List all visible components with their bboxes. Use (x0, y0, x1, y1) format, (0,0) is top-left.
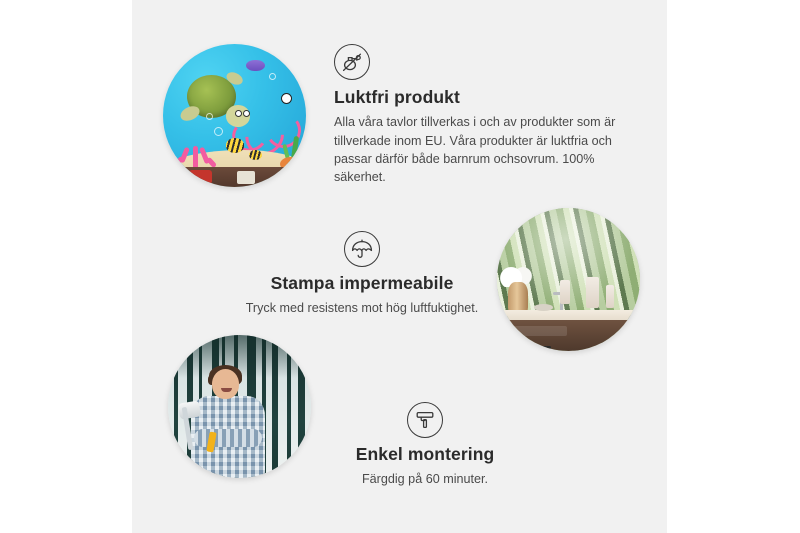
paint-roller-icon (407, 402, 443, 438)
no-odour-perfume-bottle-icon (334, 44, 370, 80)
product-features-infographic: Luktfri produkt Alla våra tavlor tillver… (0, 0, 800, 533)
fish-purple (246, 60, 265, 71)
turtle-eye (235, 110, 242, 117)
bubble-icon (206, 113, 213, 120)
vanity-cabinet (506, 320, 640, 351)
feature-waterproof: Stampa impermeabile Tryck med resistens … (222, 231, 502, 318)
feature-title: Luktfri produkt (334, 88, 624, 107)
octopus-eye (281, 93, 292, 104)
soap-dish (534, 304, 553, 311)
photo-painter (168, 335, 311, 478)
door-handle (613, 346, 616, 350)
feature-title: Stampa impermeabile (222, 274, 502, 293)
aquarium-foreground (163, 167, 306, 187)
feature-description: Färgdig på 60 minuter. (300, 470, 550, 488)
feature-description: Tryck med resistens mot hög luftfuktighe… (222, 299, 502, 317)
aquarium-foreground-object (189, 170, 212, 184)
drawer-handle (522, 346, 552, 349)
bathroom-bottle (606, 285, 615, 308)
aquarium-foreground-object (237, 171, 254, 184)
bathroom-bottle (560, 280, 570, 304)
feature-easy-mounting: Enkel montering Färgdig på 60 minuter. (300, 402, 550, 489)
person-arm (194, 429, 263, 446)
fish-yellow (249, 150, 262, 160)
feature-title: Enkel montering (300, 445, 550, 464)
person-head (212, 369, 239, 399)
umbrella-icon (344, 231, 380, 267)
feature-odour-free: Luktfri produkt Alla våra tavlor tillver… (334, 44, 624, 186)
feature-description: Alla våra tavlor tillverkas i och av pro… (334, 113, 624, 186)
fish-yellow (226, 138, 245, 152)
photo-bathroom (497, 208, 640, 351)
bubble-icon (269, 73, 276, 80)
turtle-eye (243, 110, 250, 117)
coral (174, 136, 214, 170)
photo-aquarium (163, 44, 306, 187)
bathroom-bottle (586, 277, 599, 308)
door-handle (628, 346, 631, 350)
